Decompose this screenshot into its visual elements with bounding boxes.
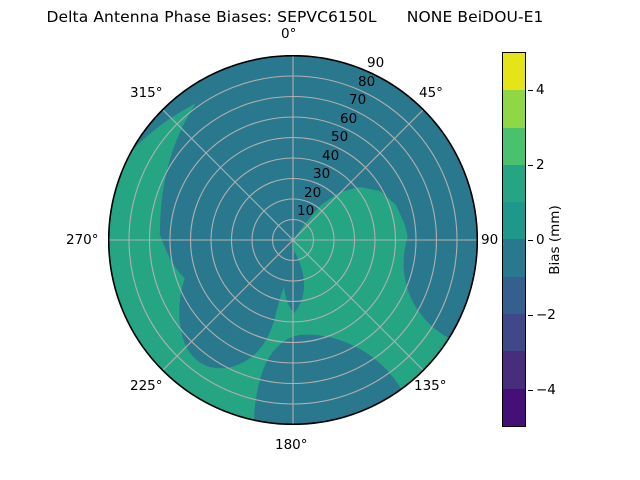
theta-tick-label-90: 90: [481, 232, 498, 248]
theta-tick-label-0: 0°: [281, 26, 296, 42]
colorbar-band-1: [503, 351, 525, 388]
polar-plot-svg: [108, 55, 478, 425]
colorbar-ticklabel-0: 0: [536, 232, 545, 248]
colorbar-ticklabel-4: 4: [536, 82, 545, 98]
r-tick-label-50: 50: [331, 129, 348, 145]
colorbar-band-4: [503, 239, 525, 276]
colorbar-tick-0: [528, 240, 533, 241]
r-tick-label-70: 70: [349, 92, 366, 108]
colorbar-tick-m4: [528, 390, 533, 391]
r-tick-label-40: 40: [322, 148, 339, 164]
colorbar-band-9: [503, 53, 525, 90]
colorbar-tick-4: [528, 90, 533, 91]
colorbar-tick-m2: [528, 315, 533, 316]
r-tick-label-20: 20: [304, 185, 321, 201]
colorbar-ticklabel-2: 2: [536, 157, 545, 173]
theta-tick-label-135: 135°: [414, 378, 447, 394]
polar-contour-figure: Delta Antenna Phase Biases: SEPVC6150L N…: [0, 0, 640, 480]
theta-tick-label-315: 315°: [130, 85, 163, 101]
polar-grid-spokes: [109, 56, 477, 424]
r-tick-label-90: 90: [367, 55, 384, 71]
colorbar-band-6: [503, 165, 525, 202]
r-tick-label-80: 80: [358, 74, 375, 90]
theta-tick-label-225: 225°: [130, 378, 163, 394]
colorbar-band-0: [503, 389, 525, 426]
colorbar-axis-label: Bias (mm): [547, 205, 563, 274]
r-tick-label-30: 30: [313, 166, 330, 182]
polar-axes: 10 20 30 40 50 60 70 80 90: [108, 55, 478, 425]
colorbar-ticklabel-m2: −2: [536, 307, 556, 323]
colorbar-band-8: [503, 90, 525, 127]
colorbar-tick-2: [528, 165, 533, 166]
colorbar: 4 2 0 −2 −4: [502, 52, 526, 427]
page-title: Delta Antenna Phase Biases: SEPVC6150L N…: [0, 8, 590, 26]
colorbar-band-5: [503, 202, 525, 239]
theta-tick-label-45: 45°: [419, 85, 443, 101]
colorbar-band-7: [503, 128, 525, 165]
colorbar-band-2: [503, 314, 525, 351]
r-tick-label-10: 10: [297, 203, 314, 219]
r-tick-label-60: 60: [340, 111, 357, 127]
colorbar-ticklabel-m4: −4: [536, 382, 556, 398]
theta-tick-label-270: 270°: [66, 232, 99, 248]
theta-tick-label-180: 180°: [275, 437, 308, 453]
colorbar-band-3: [503, 277, 525, 314]
colorbar-gradient: [502, 52, 526, 427]
